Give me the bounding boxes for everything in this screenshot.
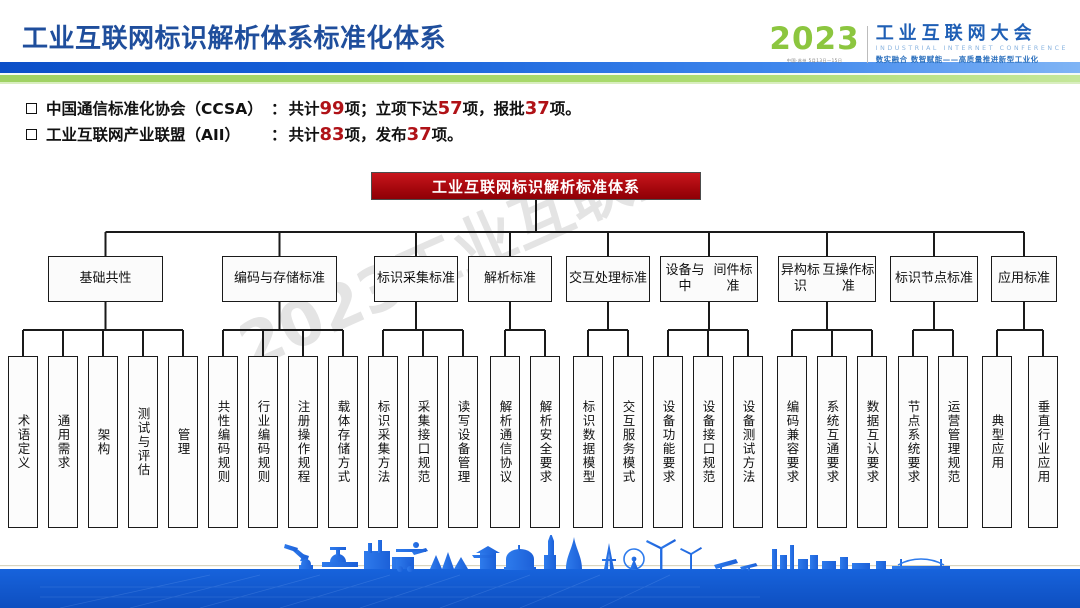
leaf-standard-label: 管理	[174, 428, 193, 456]
leaf-standard-box[interactable]: 设备功能要求	[653, 356, 683, 528]
level2-category-box[interactable]: 设备与中间件标准	[660, 256, 758, 302]
leaf-standard-box[interactable]: 垂直行业应用	[1028, 356, 1058, 528]
bullet-count-number: 99	[320, 96, 345, 122]
level2-category-label: 标准	[429, 271, 455, 287]
leaf-standard-label: 注册操作规程	[294, 400, 313, 484]
bullet-text-segment: 项；立项下达	[345, 96, 438, 122]
level2-category-label: 交互处理	[569, 271, 621, 287]
bullet-text-segment: 项，发布	[345, 122, 407, 148]
leaf-standard-box[interactable]: 设备测试方法	[733, 356, 763, 528]
leaf-standard-label: 设备测试方法	[739, 400, 758, 484]
leaf-standard-label: 标识数据模型	[579, 400, 598, 484]
slide-canvas: 工业互联网标识解析体系标准化体系 2023 中国·苏州 5月13日—15日 工业…	[0, 0, 1080, 608]
leaf-standard-box[interactable]: 通用需求	[48, 356, 78, 528]
level2-category-label: 解析标准	[484, 271, 536, 287]
leaf-standard-label: 交互服务模式	[619, 400, 638, 484]
leaf-standard-label: 架构	[94, 428, 113, 456]
skyline-svg	[0, 535, 1080, 608]
level2-category-box[interactable]: 基础共性	[48, 256, 163, 302]
level2-category-box[interactable]: 标识采集标准	[374, 256, 458, 302]
leaf-standard-label: 系统互通要求	[823, 400, 842, 484]
leaf-standard-box[interactable]: 编码兼容要求	[777, 356, 807, 528]
leaf-standard-label: 共性编码规则	[214, 400, 233, 484]
logo-name-block: 工业互联网大会 INDUSTRIAL INTERNET CONFERENCE 数…	[868, 24, 1068, 65]
leaf-standard-label: 读写设备管理	[454, 400, 473, 484]
bullet-text-segment: 共计	[289, 96, 320, 122]
leaf-standard-box[interactable]: 交互服务模式	[613, 356, 643, 528]
leaf-standard-box[interactable]: 典型应用	[982, 356, 1012, 528]
leaf-standard-label: 测试与评估	[134, 407, 153, 477]
leaf-standard-box[interactable]: 运营管理规范	[938, 356, 968, 528]
bullet-count-number: 83	[320, 122, 345, 148]
level2-category-label: 标识节点	[895, 271, 947, 287]
leaf-standard-box[interactable]: 系统互通要求	[817, 356, 847, 528]
bullet-text-segment: 项。	[432, 122, 463, 148]
header-green-thin	[0, 82, 1080, 84]
bullet-label: 工业互联网产业联盟（AII）	[46, 122, 271, 148]
bullet-square-icon	[26, 129, 37, 140]
level2-category-label: 应用	[998, 271, 1024, 287]
standards-tree-diagram: 工业互联网标识解析标准体系 基础共性编码与存储标准标识采集标准解析标准交互处理标…	[0, 160, 1080, 535]
level2-category-label: 标准	[1024, 271, 1050, 287]
logo-date-line: 中国·苏州 5月13日—15日	[787, 58, 842, 64]
leaf-standard-label: 运营管理规范	[944, 400, 963, 484]
logo-year-block: 2023 中国·苏州 5月13日—15日	[769, 24, 866, 64]
leaf-standard-box[interactable]: 设备接口规范	[693, 356, 723, 528]
leaf-standard-label: 标识采集方法	[374, 400, 393, 484]
bullet-row: 中国通信标准化协会（CCSA）：共计99项；立项下达57项，报批37项。	[26, 96, 581, 122]
leaf-standard-box[interactable]: 数据互认要求	[857, 356, 887, 528]
level2-category-label: 设备与中	[661, 263, 709, 295]
level2-category-label: 编码与存储	[234, 271, 299, 287]
leaf-standard-box[interactable]: 架构	[88, 356, 118, 528]
bullet-colon: ：	[271, 122, 287, 148]
level2-category-box[interactable]: 编码与存储标准	[222, 256, 337, 302]
leaf-standard-box[interactable]: 采集接口规范	[408, 356, 438, 528]
level2-category-box[interactable]: 应用标准	[991, 256, 1057, 302]
leaf-standard-box[interactable]: 管理	[168, 356, 198, 528]
leaf-standard-label: 行业编码规则	[254, 400, 273, 484]
bullet-text-segment: 共计	[289, 122, 320, 148]
bullet-square-icon	[26, 103, 37, 114]
footer-skyline-art	[0, 535, 1080, 608]
leaf-standard-label: 解析安全要求	[536, 400, 555, 484]
level2-category-label: 标准	[947, 271, 973, 287]
level2-category-label: 标识采集	[377, 271, 429, 287]
level2-category-label: 间件标准	[709, 263, 757, 295]
bullet-row: 工业互联网产业联盟（AII）：共计83项，发布37项。	[26, 122, 581, 148]
leaf-standard-label: 载体存储方式	[334, 400, 353, 484]
leaf-standard-box[interactable]: 术语定义	[8, 356, 38, 528]
logo-name-cn: 工业互联网大会	[876, 24, 1068, 43]
leaf-standard-label: 通用需求	[54, 414, 73, 470]
conference-logo: 2023 中国·苏州 5月13日—15日 工业互联网大会 INDUSTRIAL …	[769, 24, 1068, 65]
logo-slogan: 数实融合 数智赋能——高质量推进新型工业化	[876, 54, 1068, 65]
diagram-root-label: 工业互联网标识解析标准体系	[432, 176, 640, 197]
leaf-standard-label: 设备功能要求	[659, 400, 678, 484]
bullet-text-segment: 项。	[550, 96, 581, 122]
leaf-standard-box[interactable]: 标识采集方法	[368, 356, 398, 528]
level2-category-box[interactable]: 交互处理标准	[566, 256, 650, 302]
logo-year: 2023	[769, 24, 859, 55]
level2-category-label: 标准	[299, 271, 325, 287]
leaf-standard-label: 典型应用	[988, 414, 1007, 470]
leaf-standard-box[interactable]: 注册操作规程	[288, 356, 318, 528]
level2-category-label: 标准	[621, 271, 647, 287]
leaf-standard-label: 编码兼容要求	[783, 400, 802, 484]
logo-name-en: INDUSTRIAL INTERNET CONFERENCE	[876, 45, 1068, 52]
bullet-colon: ：	[271, 96, 287, 122]
leaf-standard-box[interactable]: 节点系统要求	[898, 356, 928, 528]
diagram-root-box: 工业互联网标识解析标准体系	[371, 172, 701, 200]
leaf-standard-box[interactable]: 载体存储方式	[328, 356, 358, 528]
leaf-standard-box[interactable]: 测试与评估	[128, 356, 158, 528]
bullet-label: 中国通信标准化协会（CCSA）	[46, 96, 271, 122]
bullet-text-segment: 项，报批	[463, 96, 525, 122]
leaf-standard-box[interactable]: 行业编码规则	[248, 356, 278, 528]
level2-category-box[interactable]: 标识节点标准	[890, 256, 978, 302]
bullet-list: 中国通信标准化协会（CCSA）：共计99项；立项下达57项，报批37项。工业互联…	[26, 96, 581, 148]
page-title: 工业互联网标识解析体系标准化体系	[22, 18, 446, 55]
leaf-standard-box[interactable]: 读写设备管理	[448, 356, 478, 528]
bullet-count-number: 57	[438, 96, 463, 122]
level2-category-label: 互操作标准	[822, 263, 875, 295]
header-green-bar	[0, 75, 1080, 82]
leaf-standard-label: 数据互认要求	[863, 400, 882, 484]
level2-category-box[interactable]: 异构标识互操作标准	[778, 256, 876, 302]
leaf-standard-box[interactable]: 标识数据模型	[573, 356, 603, 528]
leaf-standard-label: 采集接口规范	[414, 400, 433, 484]
leaf-standard-label: 解析通信协议	[496, 400, 515, 484]
leaf-standard-label: 垂直行业应用	[1034, 400, 1053, 484]
bullet-count-number: 37	[407, 122, 432, 148]
level2-category-box[interactable]: 解析标准	[468, 256, 552, 302]
leaf-standard-label: 设备接口规范	[699, 400, 718, 484]
leaf-standard-label: 节点系统要求	[904, 400, 923, 484]
level2-category-label: 异构标识	[779, 263, 822, 295]
leaf-standard-label: 术语定义	[14, 414, 33, 470]
leaf-standard-box[interactable]: 解析通信协议	[490, 356, 520, 528]
level2-category-label: 基础共性	[79, 271, 131, 287]
leaf-standard-box[interactable]: 共性编码规则	[208, 356, 238, 528]
leaf-standard-box[interactable]: 解析安全要求	[530, 356, 560, 528]
bullet-count-number: 37	[525, 96, 550, 122]
